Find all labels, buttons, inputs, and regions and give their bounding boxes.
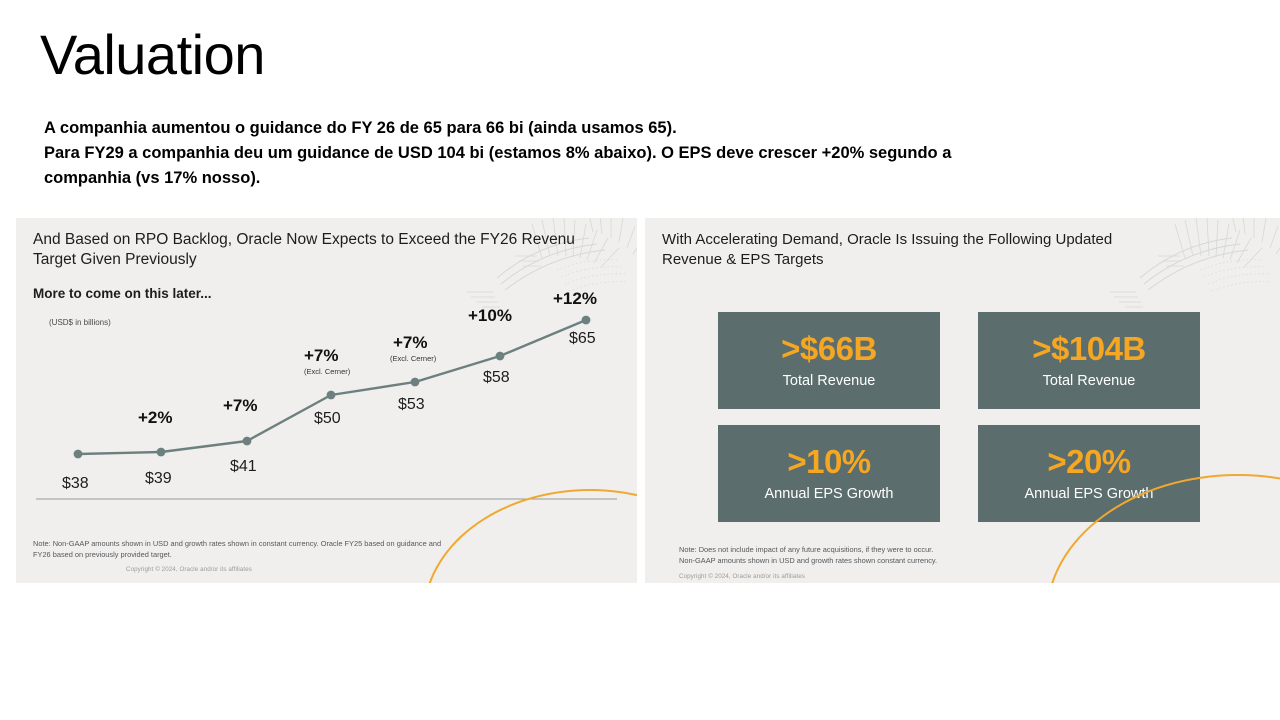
target-caption: Annual EPS Growth [1025,486,1154,502]
right-panel-note: Note: Does not include impact of any fut… [679,545,937,566]
chart-growth-label: +7% [393,333,428,353]
target-value: >10% [787,445,870,480]
left-panel-copyright: Copyright © 2024, Oracle and/or its affi… [126,566,252,573]
chart-value-label: $65 [569,330,596,348]
body-line-1: A companhia aumentou o guidance do FY 26… [44,116,1164,141]
target-caption: Annual EPS Growth [765,486,894,502]
chart-growth-label: +10% [468,306,512,326]
chart-value-label: $38 [62,475,89,493]
left-panel-note: Note: Non-GAAP amounts shown in USD and … [33,539,441,560]
chart-growth-sublabel: (Excl. Cerner) [304,367,350,376]
right-panel-copyright: Copyright © 2024, Oracle and/or its affi… [679,573,805,580]
chart-growth-label: +2% [138,408,173,428]
revenue-trend-panel: And Based on RPO Backlog, Oracle Now Exp… [16,218,637,583]
target-caption: Total Revenue [783,373,876,389]
slide-body-text: A companhia aumentou o guidance do FY 26… [44,116,1164,191]
body-line-2: Para FY29 a companhia deu um guidance de… [44,141,1164,166]
chart-value-label: $50 [314,410,341,428]
target-caption: Total Revenue [1043,373,1136,389]
chart-value-label: $58 [483,369,510,387]
target-card-fy2029-eps: >20% Annual EPS Growth [978,425,1200,522]
target-value: >$104B [1032,332,1146,367]
chart-value-label: $53 [398,396,425,414]
right-panel-title: With Accelerating Demand, Oracle Is Issu… [662,230,1222,270]
revenue-line-chart [16,218,637,583]
chart-value-label: $39 [145,470,172,488]
body-line-3: companhia (vs 17% nosso). [44,166,1164,191]
target-value: >$66B [781,332,877,367]
chart-growth-label: +12% [553,289,597,309]
chart-growth-label: +7% [223,396,258,416]
target-card-fy2026-revenue: >$66B Total Revenue [718,312,940,409]
chart-growth-sublabel: (Excl. Cerner) [390,354,436,363]
target-card-fy2026-eps: >10% Annual EPS Growth [718,425,940,522]
chart-value-label: $41 [230,458,257,476]
page-title: Valuation [40,24,265,86]
chart-growth-label: +7% [304,346,339,366]
targets-panel: With Accelerating Demand, Oracle Is Issu… [645,218,1280,583]
target-value: >20% [1047,445,1130,480]
target-card-fy2029-revenue: >$104B Total Revenue [978,312,1200,409]
